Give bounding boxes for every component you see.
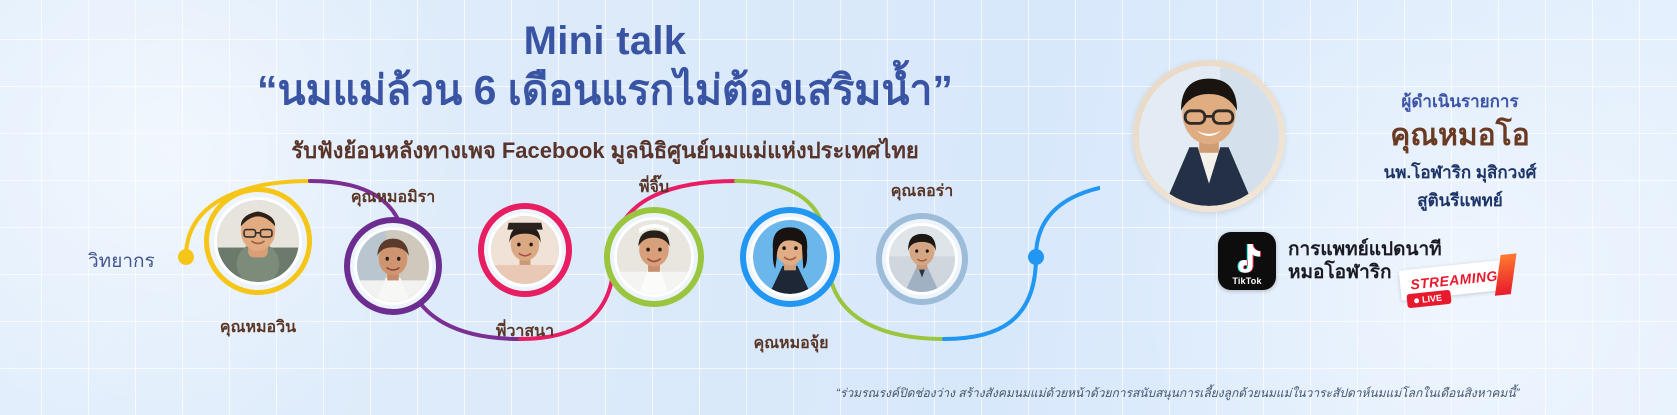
speaker-ring-4 <box>604 207 704 307</box>
headline-block: Mini talk “นมแม่ล้วน 6 เดือนแรกไม่ต้องเส… <box>160 18 1050 168</box>
host-full-name: นพ.โอฬาริก มุสิกวงศ์ <box>1295 159 1625 186</box>
speaker-photo-frame-3 <box>488 213 562 287</box>
live-dot-icon <box>1414 298 1419 303</box>
speakers-timeline: คุณหมอวิน <box>0 175 1100 365</box>
tiktok-icon[interactable]: TikTok <box>1218 232 1276 290</box>
speaker-label-1: คุณหมอวิน <box>148 315 368 340</box>
live-label: LIVE <box>1422 293 1443 305</box>
host-photo <box>1139 66 1279 206</box>
speaker-photo-1 <box>217 200 299 282</box>
tiktok-wordmark: TikTok <box>1218 276 1276 286</box>
host-nickname: คุณหมอโอ <box>1295 119 1625 152</box>
tiktok-channel-line1: การแพทย์แปดนาที <box>1288 238 1442 261</box>
speaker-photo-frame-4 <box>614 217 694 297</box>
speaker-photo-3 <box>491 216 559 284</box>
event-promo-banner: Mini talk “นมแม่ล้วน 6 เดือนแรกไม่ต้องเส… <box>0 0 1677 415</box>
speaker-photo-5 <box>753 220 827 294</box>
campaign-footer-note: “ร่วมรณรงค์ปิดช่องว่าง สร้างสังคมนมแม่ด้… <box>836 384 1520 403</box>
speaker-label-2: คุณหมอมิรา <box>283 185 503 210</box>
host-specialty: สูตินรีแพทย์ <box>1295 187 1625 214</box>
host-avatar <box>1133 60 1285 212</box>
speaker-photo-frame-5 <box>750 217 830 297</box>
speaker-photo-2 <box>357 230 429 302</box>
host-photo-frame <box>1139 66 1279 206</box>
talk-topic-quote: “นมแม่ล้วน 6 เดือนแรกไม่ต้องเสริมน้ำ” <box>160 65 1050 115</box>
speaker-photo-frame-6 <box>886 223 958 295</box>
speaker-ring-6 <box>876 213 968 305</box>
speaker-photo-frame-2 <box>354 227 432 305</box>
speakers-section-label: วิทยากร <box>88 246 155 276</box>
speaker-ring-5 <box>740 207 840 307</box>
speaker-photo-6 <box>889 226 955 292</box>
speaker-photo-frame-1 <box>214 197 302 285</box>
speaker-label-6: คุณลอร่า <box>812 179 1032 204</box>
speaker-photo-4 <box>617 220 691 294</box>
replay-subtitle: รับฟังย้อนหลังทางเพจ Facebook มูลนิธิศูน… <box>160 133 1050 168</box>
speaker-ring-2 <box>344 217 442 315</box>
speaker-label-5: คุณหมอจุ้ย <box>681 331 901 356</box>
speaker-ring-3 <box>478 203 572 297</box>
speaker-label-4: พี่จิ๊บ <box>544 175 764 200</box>
host-info-block: ผู้ดำเนินรายการ คุณหมอโอ นพ.โอฬาริก มุสิ… <box>1295 88 1625 214</box>
page-title: Mini talk <box>160 18 1050 64</box>
host-role-label: ผู้ดำเนินรายการ <box>1295 88 1625 115</box>
speaker-label-3: พี่วาสนา <box>415 319 635 344</box>
